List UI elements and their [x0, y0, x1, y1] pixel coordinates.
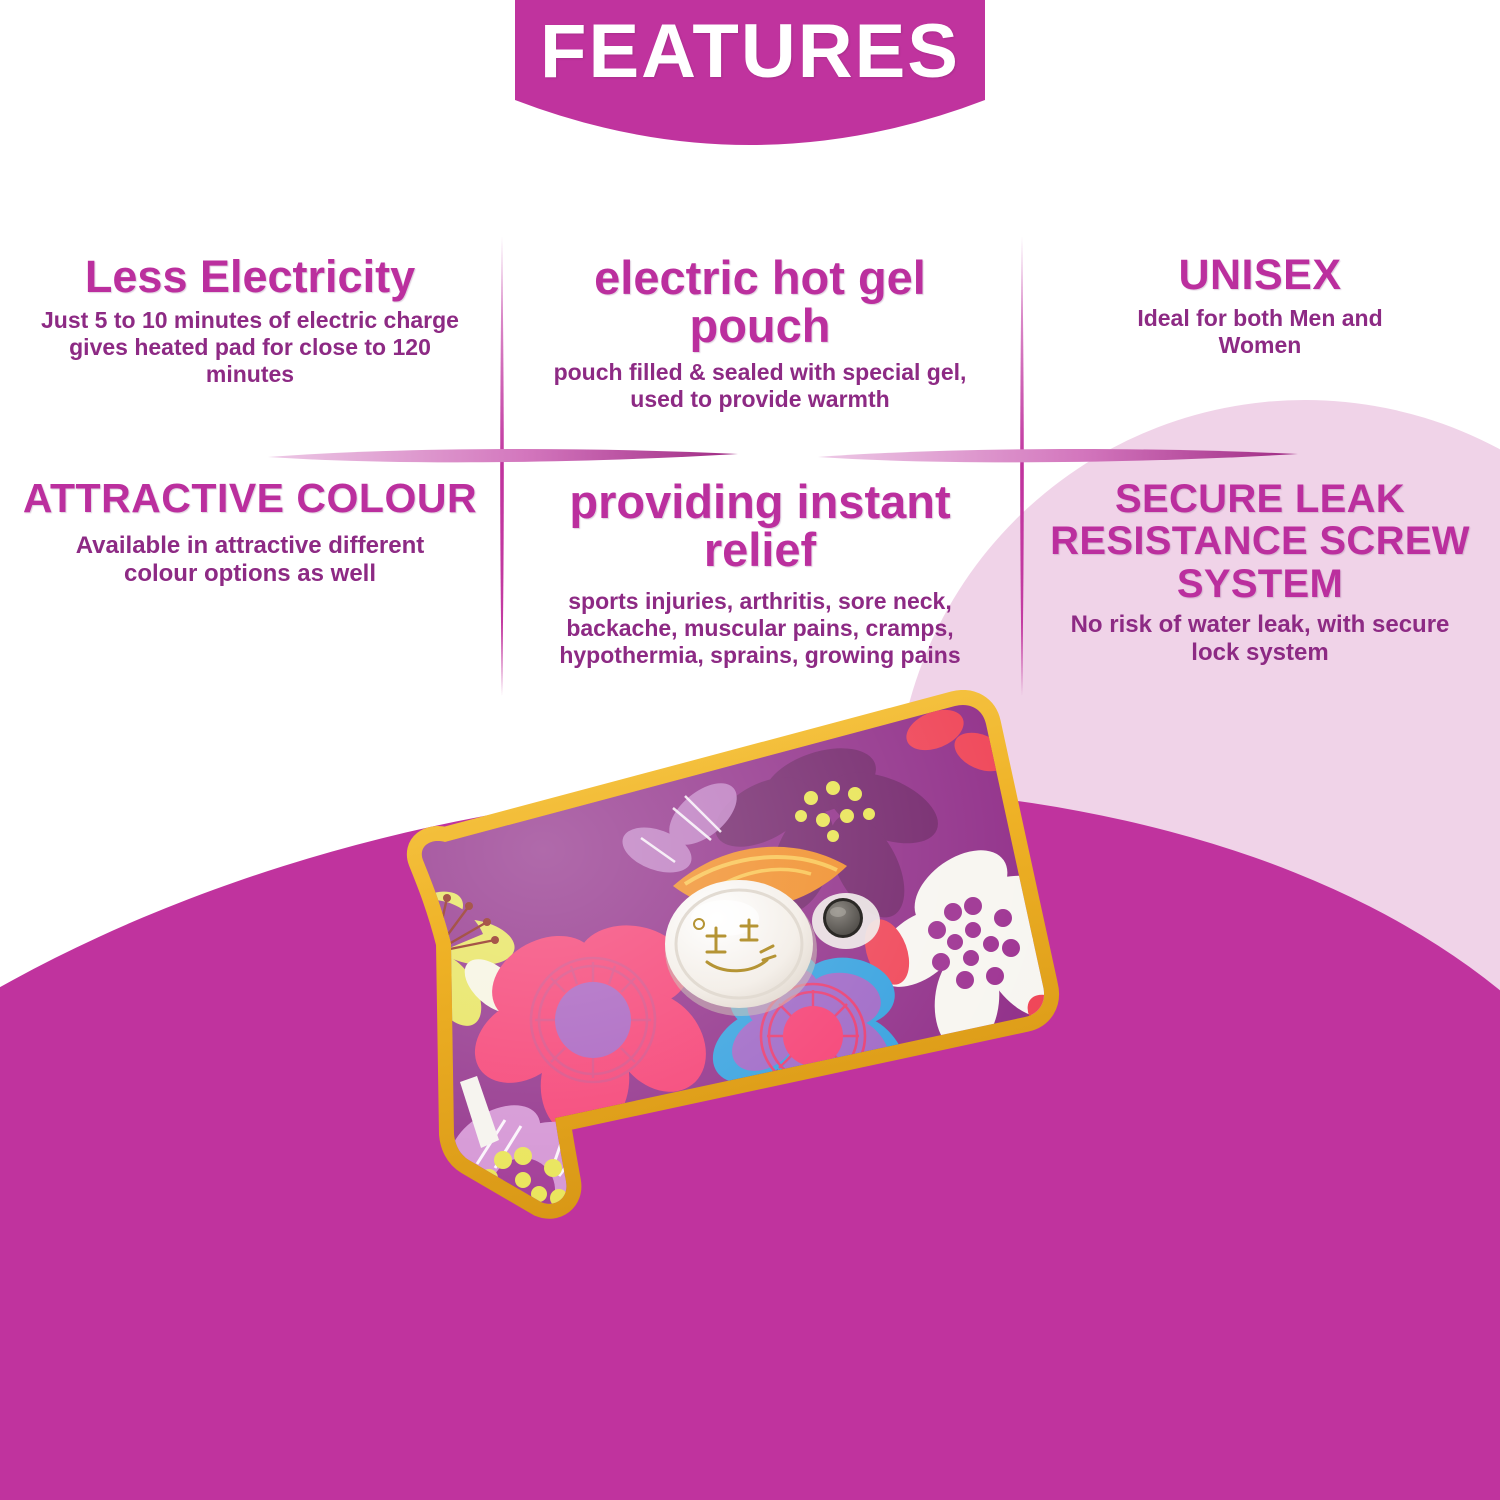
- feature-providing-instant-relief: providing instant relief sports injuries…: [500, 460, 1020, 700]
- feature-secure-leak-resistance-screw-system: SECURE LEAK RESISTANCE SCREW SYSTEM No r…: [1020, 460, 1500, 700]
- feature-title: Less Electricity: [85, 254, 415, 300]
- feature-description: Just 5 to 10 minutes of electric charge …: [38, 307, 463, 388]
- feature-title: UNISEX: [1178, 254, 1341, 298]
- feature-less-electricity: Less Electricity Just 5 to 10 minutes of…: [0, 232, 500, 460]
- feature-electric-hot-gel-pouch: electric hot gel pouch pouch filled & se…: [500, 232, 1020, 460]
- feature-unisex: UNISEX Ideal for both Men and Women: [1020, 232, 1500, 460]
- product-image-hot-water-bottle: [255, 690, 1215, 1490]
- feature-title: SECURE LEAK RESISTANCE SCREW SYSTEM: [1040, 478, 1480, 605]
- feature-description: Ideal for both Men and Women: [1095, 305, 1425, 359]
- feature-description: sports injuries, arthritis, sore neck, b…: [525, 588, 995, 669]
- feature-attractive-colour: ATTRACTIVE COLOUR Available in attractiv…: [0, 460, 500, 700]
- features-banner: FEATURES: [0, 0, 1500, 180]
- banner-shape: FEATURES: [515, 0, 985, 160]
- feature-title: electric hot gel pouch: [545, 254, 975, 350]
- feature-description: No risk of water leak, with secure lock …: [1070, 611, 1450, 667]
- feature-description: pouch filled & sealed with special gel, …: [530, 359, 990, 413]
- features-grid: Less Electricity Just 5 to 10 minutes of…: [0, 232, 1500, 700]
- banner-title: FEATURES: [540, 0, 960, 90]
- charging-port-icon: [812, 893, 880, 949]
- feature-description: Available in attractive different colour…: [40, 532, 460, 588]
- feature-title: ATTRACTIVE COLOUR: [23, 478, 477, 520]
- feature-title: providing instant relief: [525, 478, 995, 574]
